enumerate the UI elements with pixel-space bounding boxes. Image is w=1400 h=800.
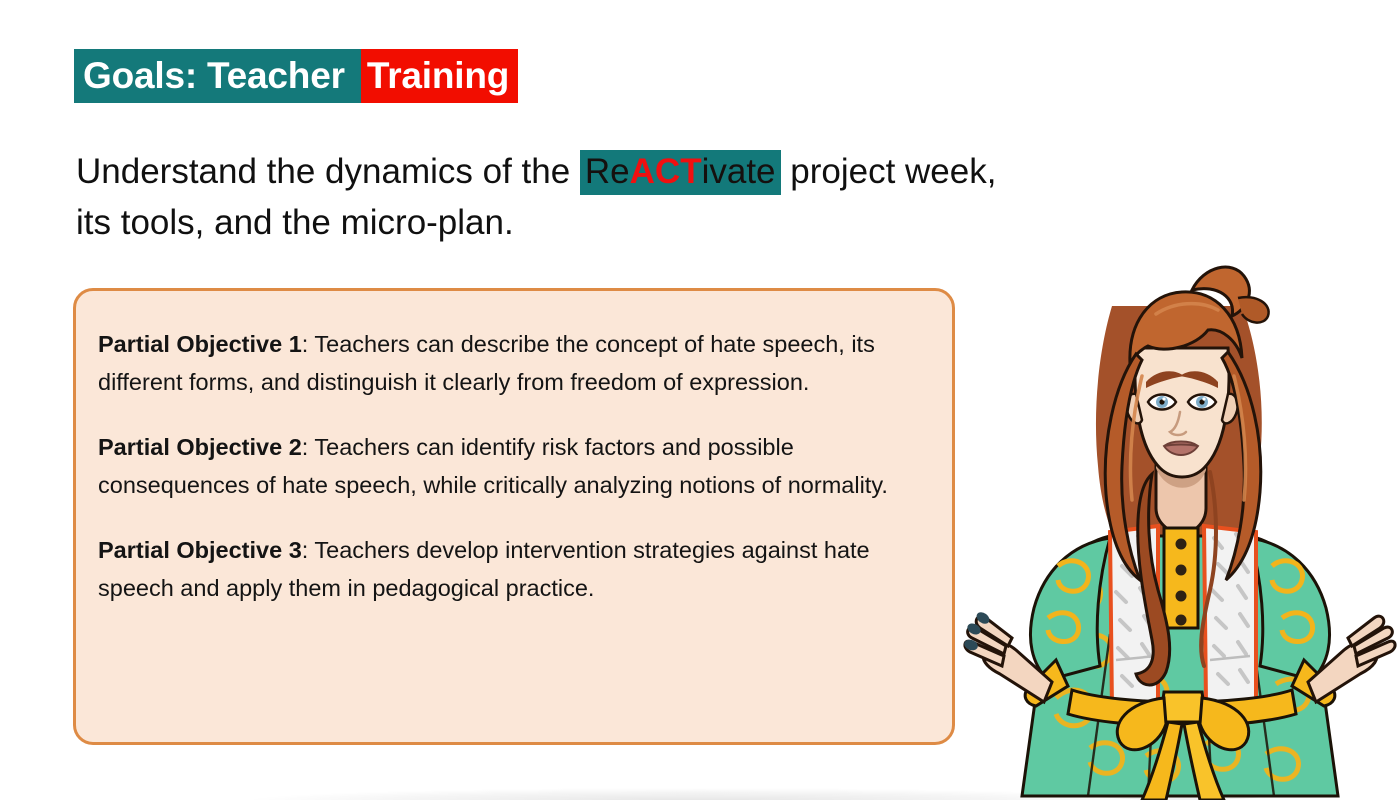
objective-2-lead: Partial Objective 2 <box>98 434 302 460</box>
objectives-box: Partial Objective 1: Teachers can descri… <box>73 288 955 745</box>
title-segment-red: Training <box>361 49 518 103</box>
title-segment-teal: Goals: Teacher <box>74 49 361 103</box>
objective-1-lead: Partial Objective 1 <box>98 331 302 357</box>
reactivate-part-ivate: ivate <box>702 152 776 191</box>
objective-item-1: Partial Objective 1: Teachers can descri… <box>98 325 920 401</box>
subtitle-before: Understand the dynamics of the <box>76 152 580 191</box>
objective-3-lead: Partial Objective 3 <box>98 537 302 563</box>
slide-bottom-shadow <box>250 788 1150 800</box>
subtitle-text: Understand the dynamics of the ReACTivat… <box>76 146 1036 248</box>
reactivate-highlight: ReACTivate <box>580 150 781 195</box>
reactivate-part-re: Re <box>585 152 630 191</box>
shrugging-woman-illustration <box>960 236 1400 800</box>
objective-item-3: Partial Objective 3: Teachers develop in… <box>98 531 920 607</box>
slide-canvas: Goals: Teacher Training Understand the d… <box>0 0 1400 800</box>
objective-item-2: Partial Objective 2: Teachers can identi… <box>98 428 920 504</box>
reactivate-part-act: ACT <box>630 152 702 191</box>
page-title: Goals: Teacher Training <box>74 49 518 103</box>
